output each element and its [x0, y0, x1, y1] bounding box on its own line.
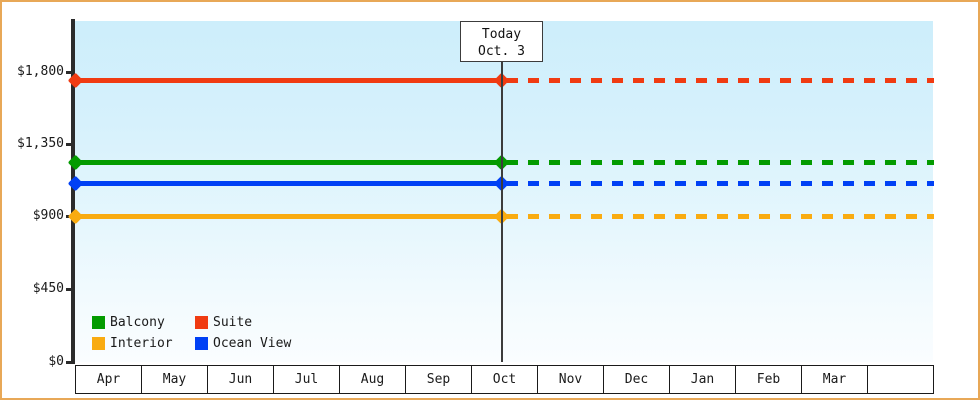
y-tick-mark-1800 — [66, 71, 72, 74]
series-line-ocean-view-future — [507, 181, 934, 186]
legend-item-balcony[interactable]: Balcony — [92, 312, 187, 333]
legend-label-balcony: Balcony — [110, 316, 165, 329]
legend-swatch-ocean-view — [195, 337, 208, 350]
x-axis-month-feb[interactable]: Feb — [736, 366, 802, 393]
series-line-suite-past — [75, 78, 503, 83]
today-vertical-line — [501, 21, 503, 362]
legend-item-suite[interactable]: Suite — [195, 312, 291, 333]
legend-item-interior[interactable]: Interior — [92, 333, 187, 354]
x-axis-month-jan[interactable]: Jan — [670, 366, 736, 393]
x-axis-month-dec[interactable]: Dec — [604, 366, 670, 393]
y-tick-label-450: $450 — [33, 282, 64, 296]
legend-label-interior: Interior — [110, 337, 173, 350]
series-line-ocean-view-past — [75, 181, 503, 186]
price-trend-chart: $1,800 $1,350 $900 $450 $0 Today Oct. 3 … — [0, 0, 980, 400]
chart-legend: Balcony Suite Interior Ocean View — [92, 312, 291, 354]
x-axis-month-jul[interactable]: Jul — [274, 366, 340, 393]
legend-item-ocean-view[interactable]: Ocean View — [195, 333, 291, 354]
series-line-balcony-past — [75, 160, 503, 165]
x-axis-month-oct[interactable]: Oct — [472, 366, 538, 393]
x-axis-month-sep[interactable]: Sep — [406, 366, 472, 393]
y-tick-label-1800: $1,800 — [17, 65, 64, 79]
today-callout-line1: Today — [461, 26, 542, 43]
y-tick-label-900: $900 — [33, 209, 64, 223]
y-tick-label-1350: $1,350 — [17, 137, 64, 151]
x-axis-month-apr[interactable]: Apr — [76, 366, 142, 393]
x-axis-month-row: Apr May Jun Jul Aug Sep Oct Nov Dec Jan … — [75, 365, 934, 394]
y-tick-mark-0 — [66, 361, 72, 364]
x-axis-month-aug[interactable]: Aug — [340, 366, 406, 393]
legend-label-ocean-view: Ocean View — [213, 337, 291, 350]
today-callout-line2: Oct. 3 — [461, 43, 542, 60]
y-tick-label-0: $0 — [48, 355, 64, 369]
x-axis-month-mar[interactable]: Mar — [802, 366, 868, 393]
today-callout-box: Today Oct. 3 — [460, 21, 543, 62]
series-line-interior-future — [507, 214, 934, 219]
legend-label-suite: Suite — [213, 316, 252, 329]
series-line-suite-future — [507, 78, 934, 83]
x-axis-month-partial — [868, 366, 934, 393]
x-axis-month-nov[interactable]: Nov — [538, 366, 604, 393]
x-axis-month-jun[interactable]: Jun — [208, 366, 274, 393]
y-tick-mark-450 — [66, 288, 72, 291]
x-axis-month-may[interactable]: May — [142, 366, 208, 393]
y-tick-mark-1350 — [66, 143, 72, 146]
series-line-balcony-future — [507, 160, 934, 165]
series-line-interior-past — [75, 214, 503, 219]
plot-area — [75, 21, 933, 362]
legend-swatch-interior — [92, 337, 105, 350]
legend-swatch-balcony — [92, 316, 105, 329]
legend-swatch-suite — [195, 316, 208, 329]
